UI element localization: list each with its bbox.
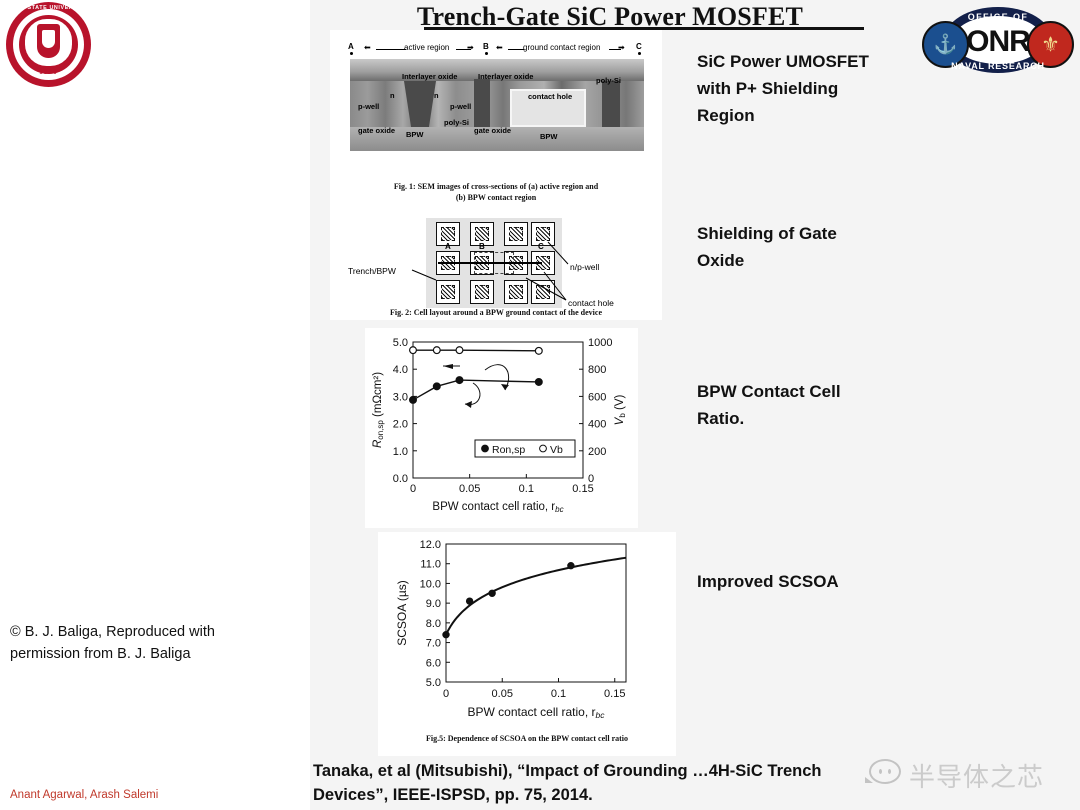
svg-text:Vb (V): Vb (V)	[614, 395, 627, 426]
svg-text:SCSOA (µs): SCSOA (µs)	[395, 580, 409, 646]
watermark-text: 半导体之芯	[909, 757, 1044, 794]
label-interlayer-oxide-2: Interlayer oxide	[478, 73, 533, 81]
svg-text:11.0: 11.0	[420, 559, 441, 571]
onr-logo: OFFICE OF NAVAL RESEARCH ONR ⚓ ⚜	[922, 3, 1074, 77]
svg-text:9.0: 9.0	[426, 598, 441, 610]
svg-text:10.0: 10.0	[420, 578, 441, 590]
active-region-label: active region	[404, 43, 449, 52]
label-gate-oxide-1: gate oxide	[358, 127, 395, 135]
label-contact-hole: contact hole	[528, 93, 572, 101]
axis-dot-b	[485, 52, 488, 55]
author-names: Anant Agarwal, Arash Salemi	[10, 789, 158, 801]
arrow-right-2: ➡	[618, 43, 625, 52]
chart-panel-scsoa: 5.06.07.08.09.010.011.012.000.050.10.15S…	[378, 532, 676, 756]
svg-text:0.1: 0.1	[519, 483, 534, 495]
marker-b: B	[483, 42, 489, 51]
cell-marker-b: B	[479, 242, 485, 251]
annotation-contact-hole: contact hole	[568, 298, 614, 308]
svg-text:800: 800	[588, 364, 606, 376]
svg-text:Vb: Vb	[550, 444, 563, 456]
bullet-improved-scsoa: Improved SCSOA	[697, 568, 887, 595]
svg-text:Ron,sp: Ron,sp	[492, 444, 525, 456]
svg-text:0: 0	[443, 688, 449, 700]
axis-line-3	[508, 49, 524, 50]
cell-marker-a: A	[445, 242, 451, 251]
svg-text:7.0: 7.0	[426, 638, 441, 650]
cell-r3c2	[470, 280, 494, 304]
svg-text:BPW contact cell ratio, rbc: BPW contact cell ratio, rbc	[467, 705, 605, 720]
onr-bottom-text: NAVAL RESEARCH	[944, 61, 1052, 71]
svg-text:1.0: 1.0	[393, 446, 408, 458]
svg-text:0.15: 0.15	[572, 483, 593, 495]
label-p-well-1: p-well	[358, 103, 379, 111]
copyright-notice: © B. J. Baliga, Reproduced with permissi…	[10, 622, 260, 666]
svg-text:2.0: 2.0	[393, 419, 408, 431]
svg-text:5.0: 5.0	[426, 677, 441, 689]
figure1-caption-line2: (b) BPW contact region	[330, 193, 662, 203]
sem-polysi-right	[602, 81, 620, 129]
bullet-sic-power-umosfet: SiC Power UMOSFET with P+ Shielding Regi…	[697, 48, 897, 130]
label-gate-oxide-2: gate oxide	[474, 127, 511, 135]
ground-contact-region-label: ground contact region	[523, 43, 600, 52]
cell-r3c3	[504, 280, 528, 304]
cell-r1c3	[504, 222, 528, 246]
chart-panel-ron-vb: 0.01.02.03.04.05.00200400600800100000.05…	[365, 328, 638, 528]
svg-text:0.05: 0.05	[492, 688, 513, 700]
label-polysi-2: poly-Si	[596, 77, 621, 85]
svg-text:600: 600	[588, 391, 606, 403]
seal-year: 1870	[6, 68, 91, 76]
svg-text:12.0: 12.0	[420, 539, 441, 551]
label-bpw-1: BPW	[406, 131, 424, 139]
figure5-caption: Fig.5: Dependence of SCSOA on the BPW co…	[378, 734, 676, 744]
sem-region-axis: A B C ⬅ active region ➡ ⬅ ground contact…	[346, 42, 648, 58]
cell-r3c4	[531, 280, 555, 304]
arrow-left-2: ⬅	[496, 43, 503, 52]
onr-letters: ONR	[944, 25, 1052, 59]
ron-vb-chart: 0.01.02.03.04.05.00200400600800100000.05…	[365, 328, 638, 528]
svg-text:5.0: 5.0	[393, 337, 408, 349]
svg-text:0.05: 0.05	[459, 483, 480, 495]
onr-top-text: OFFICE OF	[944, 12, 1052, 22]
bubble-eye-right	[888, 769, 891, 774]
cell-marker-c: C	[538, 242, 544, 251]
label-polysi-1: poly-Si	[444, 119, 469, 127]
svg-text:4.0: 4.0	[393, 364, 408, 376]
svg-text:400: 400	[588, 419, 606, 431]
label-interlayer-oxide-1: Interlayer oxide	[402, 73, 457, 81]
label-n-2: n	[434, 92, 439, 100]
sem-trench-b	[474, 79, 490, 129]
scsoa-chart: 5.06.07.08.09.010.011.012.000.050.10.15S…	[378, 532, 676, 732]
cell-section-line	[438, 262, 542, 264]
ohio-state-seal-logo: OHIO STATE UNIVERSITY 1870	[6, 2, 91, 87]
svg-text:0.0: 0.0	[393, 473, 408, 485]
svg-text:BPW contact cell ratio, rbc: BPW contact cell ratio, rbc	[432, 501, 563, 514]
label-n-1: n	[390, 92, 395, 100]
watermark: 半导体之芯	[865, 757, 1070, 801]
annotation-trench-bpw: Trench/BPW	[348, 266, 396, 276]
marker-a: A	[348, 42, 354, 51]
svg-text:0.15: 0.15	[604, 688, 625, 700]
axis-line-1	[376, 49, 406, 50]
cell-r3c1	[436, 280, 460, 304]
svg-text:6.0: 6.0	[426, 657, 441, 669]
sem-micrograph: Interlayer oxide p-well n n p-well gate …	[350, 59, 644, 151]
bullet-shielding-gate-oxide: Shielding of Gate Oxide	[697, 220, 887, 274]
bubble-eye-left	[879, 769, 882, 774]
axis-dot-a	[350, 52, 353, 55]
svg-text:0.1: 0.1	[551, 688, 566, 700]
annotation-n-p-well: n/p-well	[570, 262, 599, 272]
reference-citation: Tanaka, et al (Mitsubishi), “Impact of G…	[313, 760, 893, 808]
arrow-left-1: ⬅	[364, 43, 371, 52]
label-p-well-2: p-well	[450, 103, 471, 111]
svg-text:Ron,sp (mΩcm²): Ron,sp (mΩcm²)	[372, 372, 385, 448]
svg-text:1000: 1000	[588, 337, 612, 349]
sem-cross-section-figure: A B C ⬅ active region ➡ ⬅ ground contact…	[346, 42, 648, 172]
svg-text:8.0: 8.0	[426, 618, 441, 630]
figure1-caption-line1: Fig. 1: SEM images of cross-sections of …	[330, 182, 662, 192]
bullet-bpw-contact-cell-ratio: BPW Contact Cell Ratio.	[697, 378, 887, 432]
figure-panel-sem-and-layout: A B C ⬅ active region ➡ ⬅ ground contact…	[330, 30, 662, 320]
svg-text:0: 0	[410, 483, 416, 495]
figure2-caption: Fig. 2: Cell layout around a BPW ground …	[330, 308, 662, 318]
speech-bubble-icon	[869, 759, 901, 784]
label-bpw-2: BPW	[540, 133, 558, 141]
svg-text:3.0: 3.0	[393, 391, 408, 403]
svg-text:200: 200	[588, 446, 606, 458]
axis-dot-c	[638, 52, 641, 55]
seal-shield-icon	[37, 24, 60, 58]
marker-c: C	[636, 42, 642, 51]
figure2-cell-layout: A B C	[426, 218, 562, 308]
arrow-right-1: ➡	[467, 43, 474, 52]
sem-trench-a	[404, 81, 436, 127]
